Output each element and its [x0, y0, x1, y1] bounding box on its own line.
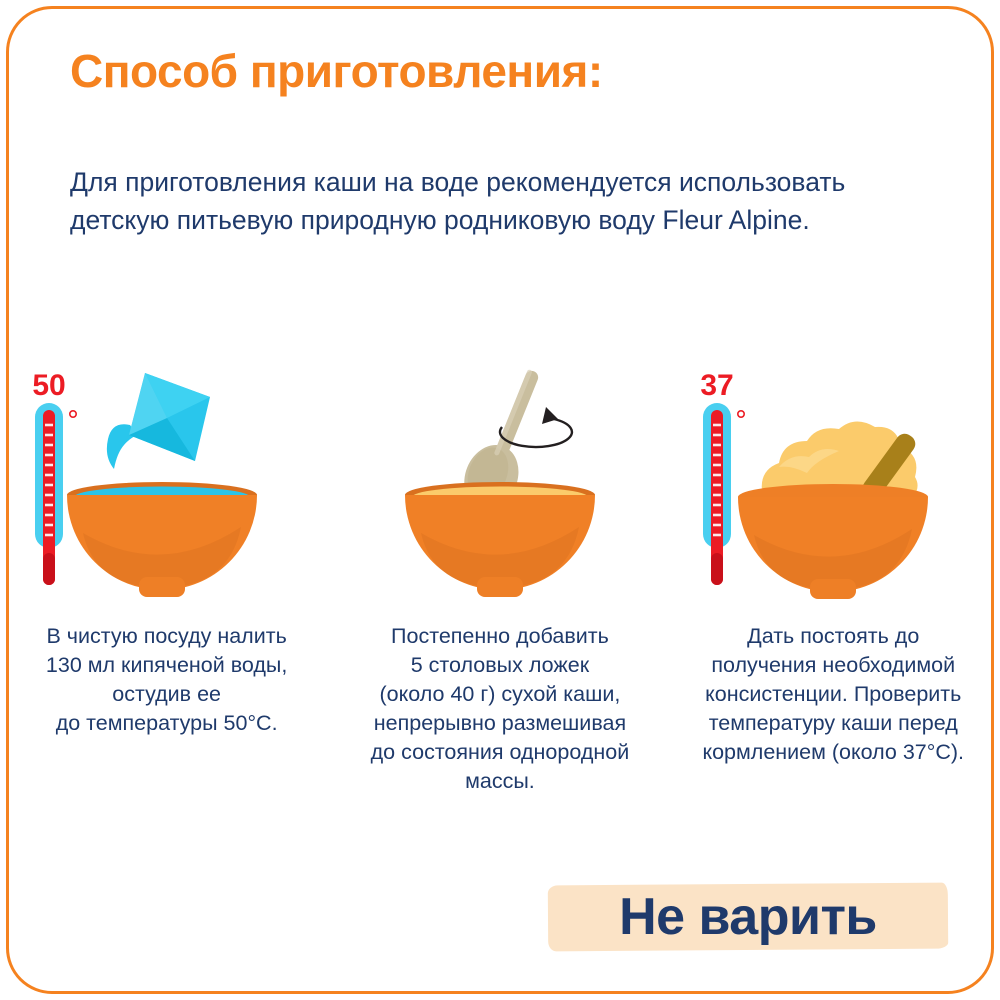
- step-1-illustration: 50: [17, 355, 317, 610]
- degree-symbol-icon: [738, 411, 744, 417]
- step-3-illustration: 37: [683, 355, 983, 610]
- pour-water-illustration: 50: [17, 355, 317, 610]
- step-2-illustration: [350, 355, 650, 610]
- water-pitcher-icon: [106, 373, 209, 469]
- bowl-with-mixture-icon: [405, 482, 595, 597]
- thermometer-37-icon: 37: [701, 369, 745, 585]
- step-2-caption: Постепенно добавить 5 столовых ложек (ок…: [350, 622, 650, 796]
- thermometer-50-icon: 50: [32, 369, 76, 585]
- step-1-caption: В чистую посуду налить 130 мл кипяченой …: [17, 622, 317, 738]
- recipe-card: Способ приготовления: Для приготовления …: [0, 0, 1000, 1000]
- bowl-icon: [738, 484, 928, 599]
- step-3-caption: Дать постоять до получения необходимой к…: [683, 622, 983, 767]
- step-3: 37: [667, 355, 1000, 796]
- degree-symbol-icon: [69, 411, 75, 417]
- do-not-boil-banner: Не варить: [548, 884, 948, 950]
- page-title: Способ приготовления:: [70, 44, 603, 98]
- thermometer-50-value: 50: [32, 369, 65, 402]
- thermometer-37-value: 37: [701, 369, 734, 402]
- step-1: 50: [0, 355, 333, 796]
- ready-porridge-illustration: 37: [683, 355, 983, 610]
- bowl-with-water-icon: [67, 482, 257, 597]
- steps-row: 50: [0, 355, 1000, 796]
- step-2: Постепенно добавить 5 столовых ложек (ок…: [333, 355, 666, 796]
- intro-paragraph: Для приготовления каши на воде рекоменду…: [70, 163, 910, 239]
- banner-label: Не варить: [548, 884, 948, 950]
- stir-spoon-illustration: [350, 355, 650, 610]
